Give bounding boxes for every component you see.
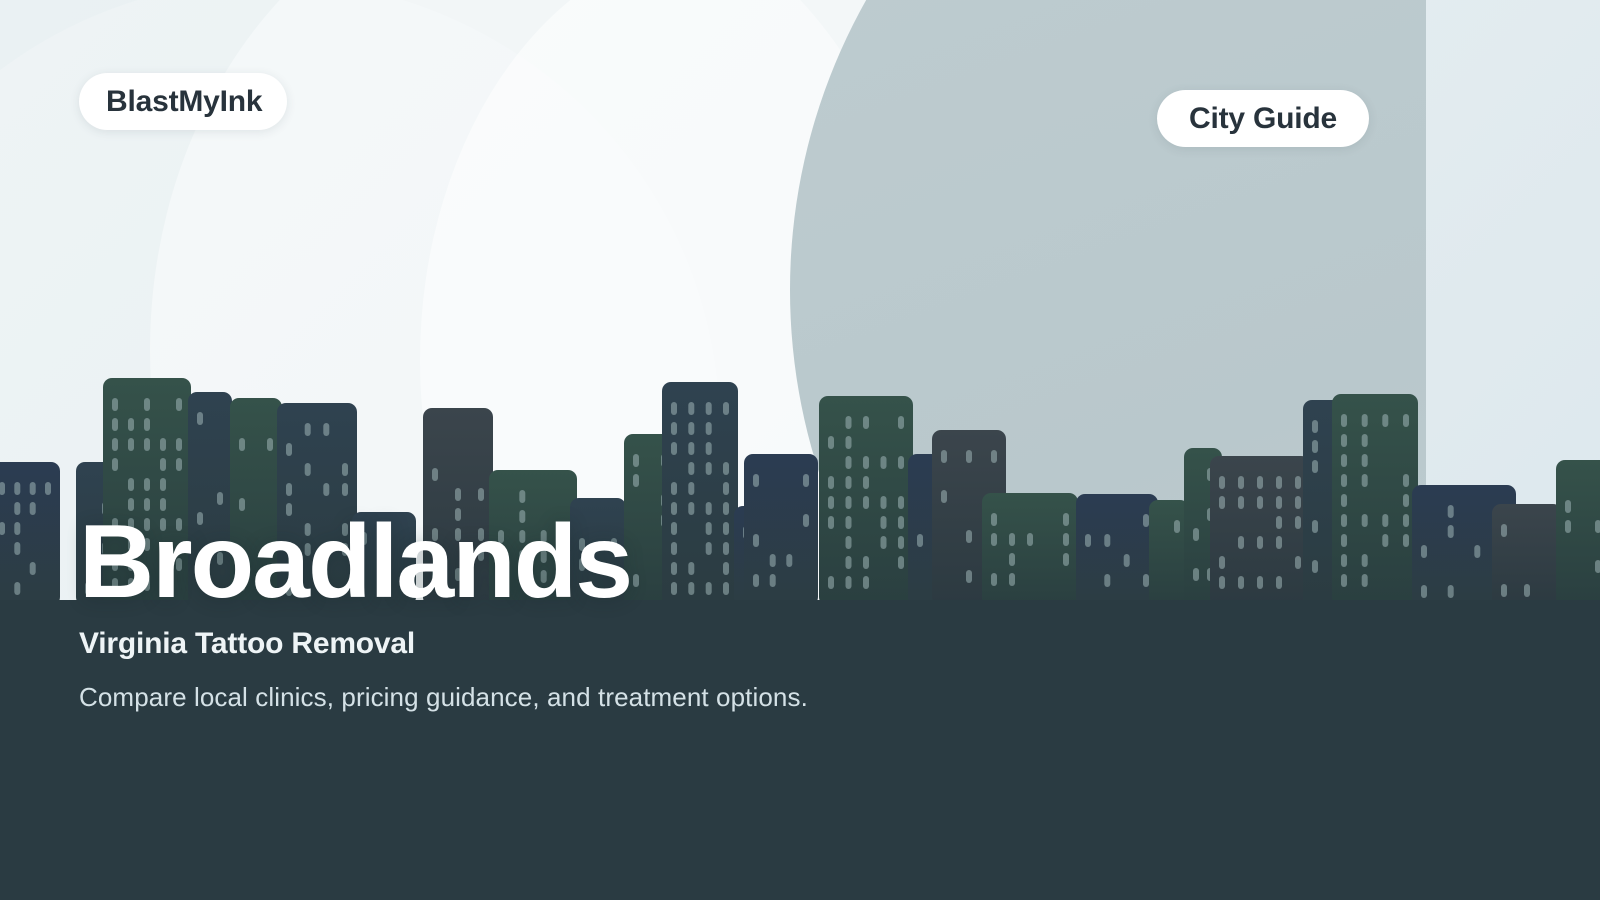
- building-window: [1448, 525, 1454, 538]
- page-title: Broadlands: [79, 510, 1279, 614]
- service-subtitle: Virginia Tattoo Removal: [79, 626, 1279, 662]
- building-window: [478, 488, 484, 501]
- building-window: [1312, 460, 1318, 473]
- building-window: [176, 458, 182, 471]
- building-window: [1312, 520, 1318, 533]
- building-window: [706, 422, 712, 435]
- building-window: [1403, 474, 1409, 487]
- building-window: [1219, 476, 1225, 489]
- brand-badge[interactable]: BlastMyInk: [79, 73, 287, 130]
- building-window: [671, 442, 677, 455]
- building-window: [828, 436, 834, 449]
- building-window: [342, 463, 348, 476]
- building-window: [144, 478, 150, 491]
- building-window: [176, 438, 182, 451]
- building-window: [898, 456, 904, 469]
- building-window: [1341, 554, 1347, 567]
- building-window: [1362, 554, 1368, 567]
- building-window: [1362, 434, 1368, 447]
- building-window: [863, 476, 869, 489]
- building-window: [846, 476, 852, 489]
- building-window: [1595, 520, 1600, 533]
- building-window: [688, 442, 694, 455]
- building-window: [14, 582, 20, 595]
- building-window: [519, 490, 525, 503]
- brand-badge-label: BlastMyInk: [106, 85, 262, 119]
- page-kind-badge-label: City Guide: [1189, 102, 1337, 136]
- building-window: [1341, 534, 1347, 547]
- building-window: [0, 522, 5, 535]
- building-window: [176, 398, 182, 411]
- building-window: [305, 423, 311, 436]
- building-window: [706, 402, 712, 415]
- building-window: [723, 482, 729, 495]
- building-window: [828, 476, 834, 489]
- building-window: [305, 463, 311, 476]
- building-window: [455, 488, 461, 501]
- building-window: [1524, 584, 1530, 597]
- building-window: [128, 418, 134, 431]
- building-window: [14, 522, 20, 535]
- building-window: [1276, 476, 1282, 489]
- building-window: [432, 468, 438, 481]
- building-window: [14, 502, 20, 515]
- building-window: [30, 482, 36, 495]
- building-window: [671, 482, 677, 495]
- building-window: [1362, 414, 1368, 427]
- building-window: [112, 398, 118, 411]
- building-window: [160, 458, 166, 471]
- building-window: [286, 443, 292, 456]
- building-window: [30, 562, 36, 575]
- building-window: [1448, 585, 1454, 598]
- building-window: [688, 482, 694, 495]
- building-27: [1556, 460, 1600, 601]
- building-window: [1276, 496, 1282, 509]
- building-window: [941, 490, 947, 503]
- building-window: [197, 412, 203, 425]
- building-window: [966, 450, 972, 463]
- building-window: [1341, 514, 1347, 527]
- building-window: [1341, 494, 1347, 507]
- building-window: [1341, 574, 1347, 587]
- building-window: [991, 450, 997, 463]
- building-window: [144, 398, 150, 411]
- building-window: [1295, 496, 1301, 509]
- building-window: [846, 456, 852, 469]
- building-window: [753, 474, 759, 487]
- building-window: [706, 442, 712, 455]
- building-window: [1238, 476, 1244, 489]
- building-window: [1382, 534, 1388, 547]
- building-window: [1474, 545, 1480, 558]
- building-window: [1448, 505, 1454, 518]
- building-window: [112, 458, 118, 471]
- building-window: [1565, 520, 1571, 533]
- building-window: [1362, 474, 1368, 487]
- building-window: [1295, 516, 1301, 529]
- building-window: [706, 462, 712, 475]
- city-hero-banner: BlastMyInk City Guide Broadlands Virgini…: [0, 0, 1600, 900]
- building-window: [1341, 414, 1347, 427]
- building-window: [881, 456, 887, 469]
- building-window: [286, 483, 292, 496]
- hero-copy: Broadlands Virginia Tattoo Removal Compa…: [79, 510, 1279, 713]
- building-window: [1341, 434, 1347, 447]
- building-window: [144, 418, 150, 431]
- building-window: [1421, 545, 1427, 558]
- building-window: [846, 416, 852, 429]
- building-24: [1332, 394, 1418, 601]
- building-window: [633, 454, 639, 467]
- building-26: [1492, 504, 1562, 601]
- building-window: [1362, 454, 1368, 467]
- building-window: [14, 482, 20, 495]
- building-window: [160, 478, 166, 491]
- building-window: [803, 474, 809, 487]
- building-window: [45, 482, 51, 495]
- building-window: [688, 402, 694, 415]
- building-window: [1312, 560, 1318, 573]
- building-window: [30, 502, 36, 515]
- building-window: [846, 496, 852, 509]
- building-window: [898, 496, 904, 509]
- building-window: [1312, 420, 1318, 433]
- building-window: [1403, 534, 1409, 547]
- building-window: [1219, 496, 1225, 509]
- building-window: [828, 496, 834, 509]
- building-window: [1382, 514, 1388, 527]
- building-window: [671, 402, 677, 415]
- building-window: [1362, 514, 1368, 527]
- building-window: [160, 438, 166, 451]
- building-window: [723, 402, 729, 415]
- building-window: [342, 483, 348, 496]
- building-window: [0, 482, 5, 495]
- building-window: [846, 436, 852, 449]
- building-window: [671, 422, 677, 435]
- building-window: [1295, 556, 1301, 569]
- building-window: [898, 416, 904, 429]
- building-window: [1341, 454, 1347, 467]
- building-window: [144, 438, 150, 451]
- building-window: [1257, 476, 1263, 489]
- building-window: [112, 438, 118, 451]
- building-window: [1312, 440, 1318, 453]
- building-window: [863, 416, 869, 429]
- building-1: [0, 462, 60, 601]
- building-window: [128, 438, 134, 451]
- building-window: [1295, 476, 1301, 489]
- building-window: [941, 450, 947, 463]
- building-window: [1382, 414, 1388, 427]
- page-kind-badge[interactable]: City Guide: [1157, 90, 1369, 147]
- building-window: [1238, 496, 1244, 509]
- building-window: [881, 496, 887, 509]
- building-window: [863, 456, 869, 469]
- building-window: [14, 542, 20, 555]
- building-window: [112, 418, 118, 431]
- building-window: [1341, 474, 1347, 487]
- building-window: [633, 474, 639, 487]
- building-window: [1403, 514, 1409, 527]
- building-window: [863, 496, 869, 509]
- building-window: [267, 438, 273, 451]
- building-window: [723, 462, 729, 475]
- hero-tagline: Compare local clinics, pricing guidance,…: [79, 681, 1279, 713]
- building-window: [1257, 496, 1263, 509]
- building-window: [323, 483, 329, 496]
- building-window: [1403, 494, 1409, 507]
- building-window: [128, 478, 134, 491]
- building-window: [688, 422, 694, 435]
- building-window: [1362, 574, 1368, 587]
- building-window: [1501, 524, 1507, 537]
- building-window: [1565, 500, 1571, 513]
- building-window: [239, 438, 245, 451]
- building-window: [1421, 585, 1427, 598]
- building-window: [1501, 584, 1507, 597]
- building-window: [1595, 560, 1600, 573]
- building-window: [323, 423, 329, 436]
- building-window: [688, 462, 694, 475]
- building-window: [1403, 414, 1409, 427]
